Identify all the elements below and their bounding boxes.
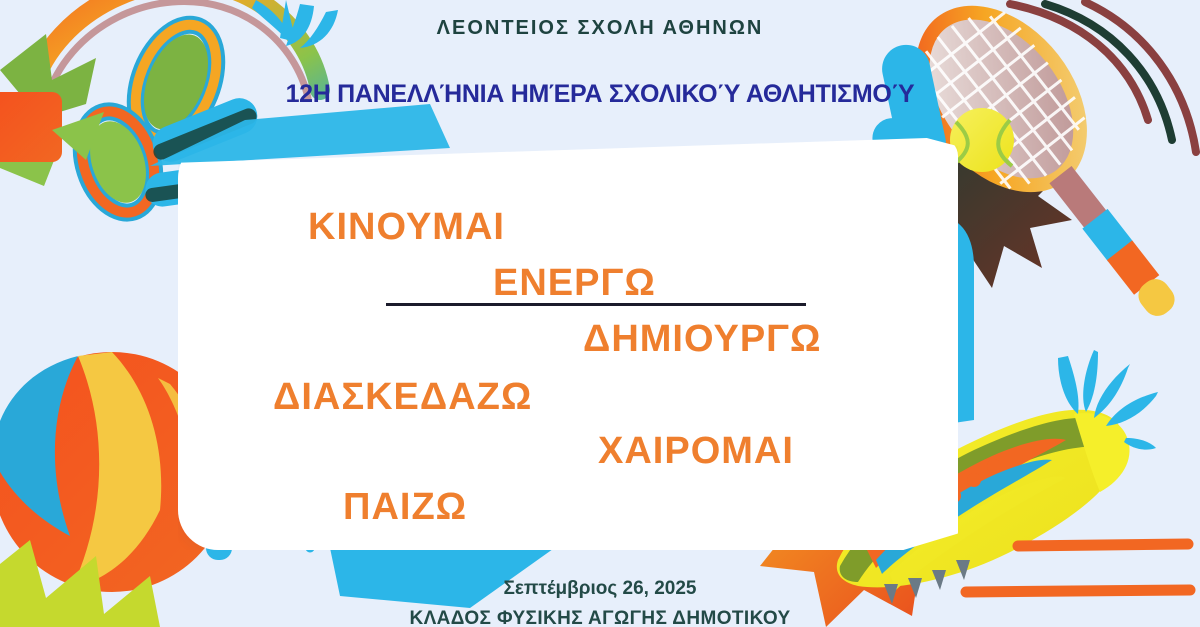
verb-list: ΚΙΝΟΥΜΑΙ ΕΝΕΡΓΩ ΔΗΜΙΟΥΡΓΩ ΔΙΑΣΚΕΔΑΖΩ ΧΑΙ… <box>178 138 958 550</box>
verb-item: ΚΙΝΟΥΜΑΙ <box>308 206 505 249</box>
verb-item: ΔΙΑΣΚΕΔΑΖΩ <box>273 376 532 419</box>
school-title: ΛΕΟΝΤΕΙΟΣ ΣΧΟΛΗ ΑΘΗΝΩΝ <box>0 17 1200 40</box>
verb-item: ΕΝΕΡΓΩ <box>493 262 656 305</box>
department-name: ΚΛΑΔΟΣ ΦΥΣΙΚΗΣ ΑΓΩΓΗΣ ΔΗΜΟΤΙΚΟΥ <box>0 608 1200 627</box>
verb-item: ΔΗΜΙΟΥΡΓΩ <box>583 318 821 361</box>
event-title: 12Η ΠΑΝΕΛΛΉΝΙΑ ΗΜΈΡΑ ΣΧΟΛΙΚΟΎ ΑΘΛΗΤΙΣΜΟΎ <box>0 80 1200 109</box>
tennis-ball-illustration <box>950 108 1014 172</box>
divider-rule <box>386 303 806 306</box>
verb-item: ΠΑΙΖΩ <box>343 486 467 529</box>
event-date: Σεπτέμβριος 26, 2025 <box>0 578 1200 600</box>
poster-canvas: ΛΕΟΝΤΕΙΟΣ ΣΧΟΛΗ ΑΘΗΝΩΝ 12Η ΠΑΝΕΛΛΉΝΙΑ ΗΜ… <box>0 0 1200 627</box>
verb-item: ΧΑΙΡΟΜΑΙ <box>598 430 794 473</box>
